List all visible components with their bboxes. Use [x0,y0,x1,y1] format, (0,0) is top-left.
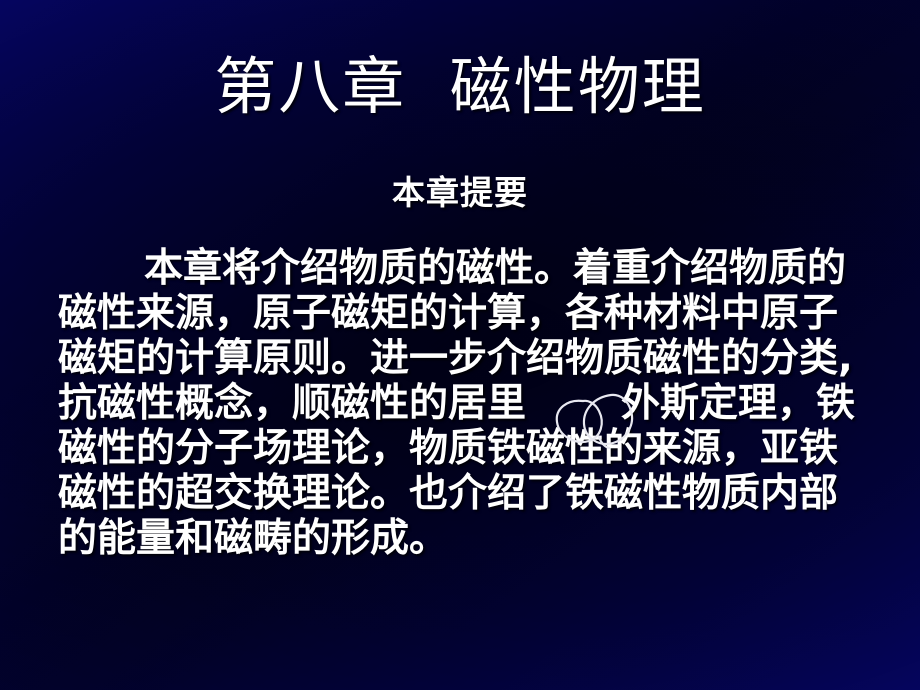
slide-subtitle: 本章提要 [0,176,920,209]
body-line: 的能量和磁畴的形成。 [58,516,870,561]
body-line: 抗磁性概念，顺磁性的居里 外斯定理，铁 [58,381,870,426]
slide-title: 第八章 磁性物理 [0,56,920,118]
body-line: 磁性来源，原子磁矩的计算，各种材料中原子 [58,291,870,336]
presentation-slide: 第八章 磁性物理 本章提要 本章将介绍物质的磁性。着重介绍物质的 磁性来源，原子… [0,0,920,690]
body-line: 磁性的分子场理论，物质铁磁性的来源，亚铁 [58,426,870,471]
slide-body-text: 本章将介绍物质的磁性。着重介绍物质的 磁性来源，原子磁矩的计算，各种材料中原子 … [58,246,870,561]
body-line: 磁性的超交换理论。也介绍了铁磁性物质内部 [58,471,870,516]
body-line: 磁矩的计算原则。进一步介绍物质磁性的分类, [58,336,870,381]
body-line: 本章将介绍物质的磁性。着重介绍物质的 [58,246,870,291]
